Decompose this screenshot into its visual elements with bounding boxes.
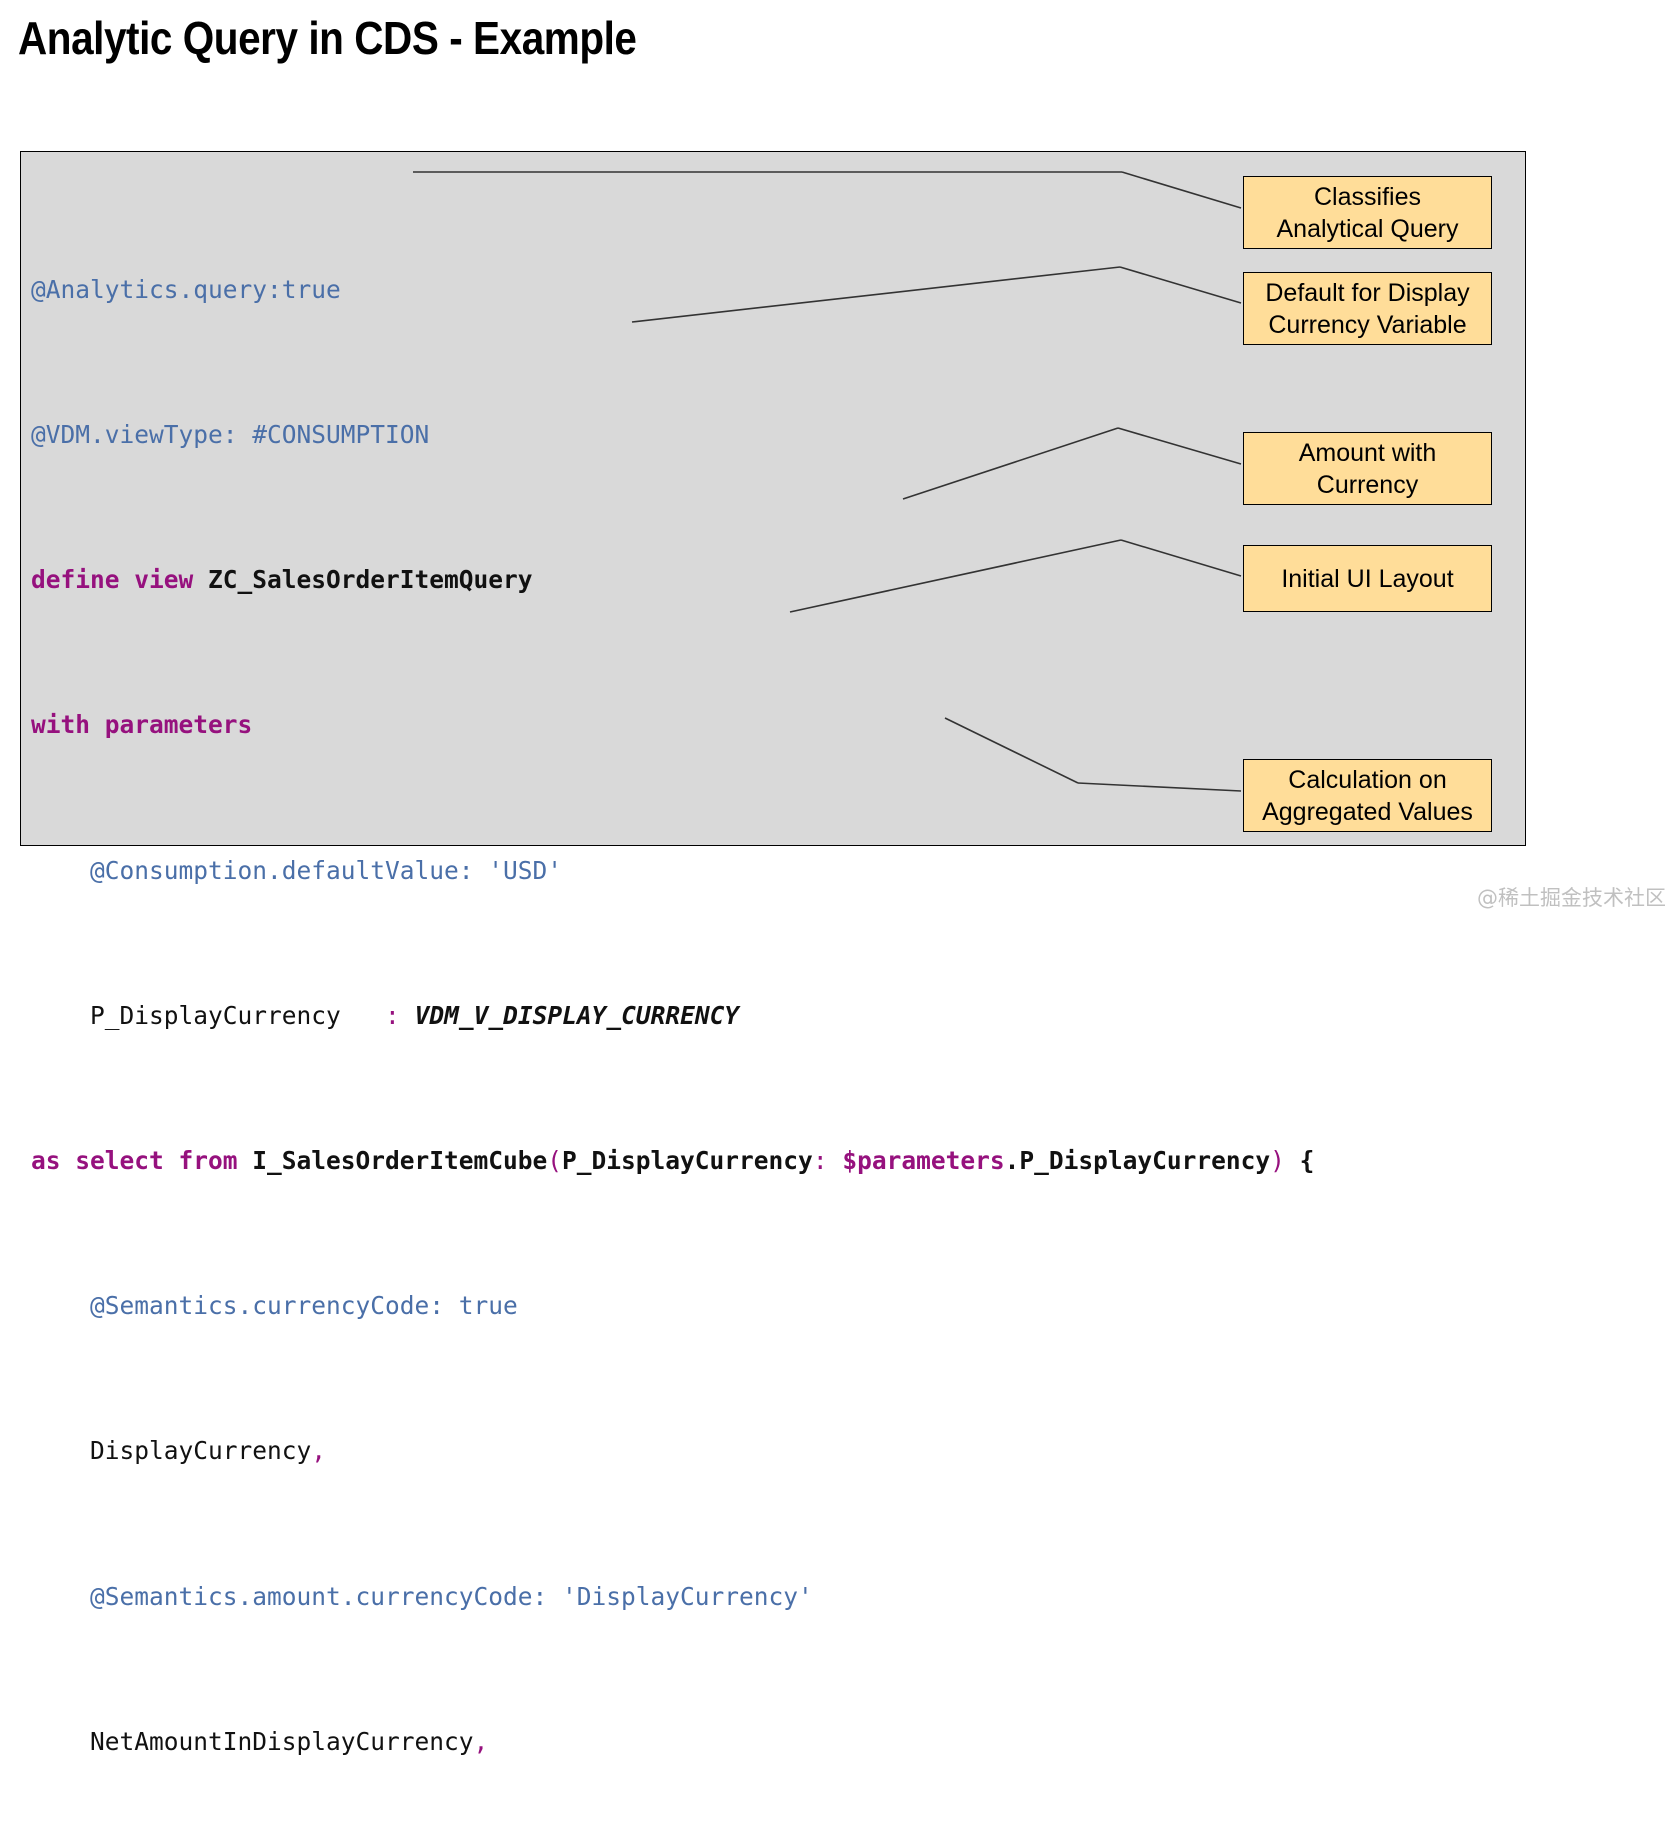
code-line-8: @Semantics.currencyCode: true: [31, 1288, 1314, 1324]
comma: ,: [311, 1436, 326, 1465]
parameter-type: VDM_V_DISPLAY_CURRENCY: [415, 1001, 740, 1030]
argument-value: .P_DisplayCurrency: [1005, 1146, 1271, 1175]
annotation-semantics-currencycode: @Semantics.currencyCode: true: [90, 1291, 518, 1320]
annotation-analytics-query: @Analytics.query:true: [31, 275, 341, 304]
annotation-semantics-amount: @Semantics.amount.currencyCode: 'Display…: [90, 1582, 813, 1611]
callout-layout-line1: Initial UI Layout: [1281, 563, 1453, 595]
open-brace: {: [1300, 1146, 1315, 1175]
open-paren: (: [547, 1146, 562, 1175]
parameter-name: P_DisplayCurrency: [90, 1001, 341, 1030]
source-cube-name: I_SalesOrderItemCube: [252, 1146, 547, 1175]
watermark: @稀土掘金技术社区: [1477, 882, 1666, 912]
callout-amount-line1: Amount with: [1299, 437, 1437, 469]
cds-code-block: @Analytics.query:true @VDM.viewType: #CO…: [31, 163, 1314, 1840]
callout-calc-line1: Calculation on: [1262, 764, 1473, 796]
code-line-3: define view ZC_SalesOrderItemQuery: [31, 562, 1314, 598]
annotation-consumption-defaultvalue: @Consumption.defaultValue: 'USD': [90, 856, 562, 885]
comma: ,: [474, 1727, 489, 1756]
parameter-colon: :: [385, 1001, 400, 1030]
argument-name: P_DisplayCurrency: [562, 1146, 813, 1175]
code-line-5: @Consumption.defaultValue: 'USD': [31, 853, 1314, 889]
callout-amount-with-currency: Amount with Currency: [1243, 432, 1492, 505]
callout-default-line2: Currency Variable: [1265, 309, 1469, 341]
page-title: Analytic Query in CDS - Example: [18, 8, 636, 68]
keyword-with-parameters: with parameters: [31, 710, 252, 739]
callout-default-currency: Default for Display Currency Variable: [1243, 272, 1492, 345]
callout-initial-ui-layout: Initial UI Layout: [1243, 545, 1492, 612]
code-line-2: @VDM.viewType: #CONSUMPTION: [31, 417, 1314, 453]
code-line-9: DisplayCurrency,: [31, 1433, 1314, 1469]
close-paren: ): [1270, 1146, 1285, 1175]
callout-classifies: Classifies Analytical Query: [1243, 176, 1492, 249]
code-line-4: with parameters: [31, 707, 1314, 743]
code-line-1: @Analytics.query:true: [31, 272, 1314, 308]
field-netamountindisplaycurrency: NetAmountInDisplayCurrency: [90, 1727, 474, 1756]
callout-calc-line2: Aggregated Values: [1262, 796, 1473, 828]
code-line-11: NetAmountInDisplayCurrency,: [31, 1724, 1314, 1760]
code-line-10: @Semantics.amount.currencyCode: 'Display…: [31, 1579, 1314, 1615]
code-line-6: P_DisplayCurrency : VDM_V_DISPLAY_CURREN…: [31, 998, 1314, 1034]
view-name: ZC_SalesOrderItemQuery: [208, 565, 533, 594]
keyword-define-view: define view: [31, 565, 208, 594]
keyword-parameters: $parameters: [842, 1146, 1004, 1175]
annotation-vdm-viewtype: @VDM.viewType: #CONSUMPTION: [31, 420, 429, 449]
callout-calculation-aggregated: Calculation on Aggregated Values: [1243, 759, 1492, 832]
callout-default-line1: Default for Display: [1265, 277, 1469, 309]
code-line-7: as select from I_SalesOrderItemCube(P_Di…: [31, 1143, 1314, 1179]
field-displaycurrency: DisplayCurrency: [90, 1436, 311, 1465]
callout-classifies-line2: Analytical Query: [1276, 213, 1458, 245]
argument-colon: :: [813, 1146, 828, 1175]
callout-classifies-line1: Classifies: [1276, 181, 1458, 213]
callout-amount-line2: Currency: [1299, 469, 1437, 501]
keyword-as-select-from: as select from: [31, 1146, 252, 1175]
